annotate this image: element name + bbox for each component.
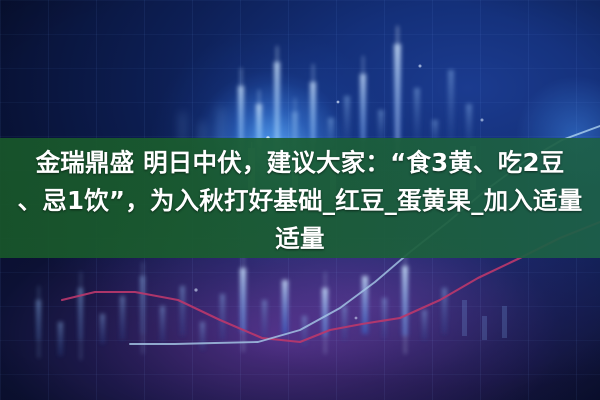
caption-text: 金瑞鼎盛 明日中伏，建议大家：“食3黄、吃2豆 、忌1饮”，为入秋打好基础_红豆…	[0, 144, 600, 258]
caption-line-3: 适量	[0, 220, 600, 258]
caption-line-1: 金瑞鼎盛 明日中伏，建议大家：“食3黄、吃2豆	[0, 144, 600, 182]
candle-group-lower	[36, 250, 507, 360]
caption-line-2: 、忌1饮”，为入秋打好基础_红豆_蛋黄果_加入适量	[0, 182, 600, 220]
banner-image: 金瑞鼎盛 明日中伏，建议大家：“食3黄、吃2豆 、忌1饮”，为入秋打好基础_红豆…	[0, 0, 600, 400]
